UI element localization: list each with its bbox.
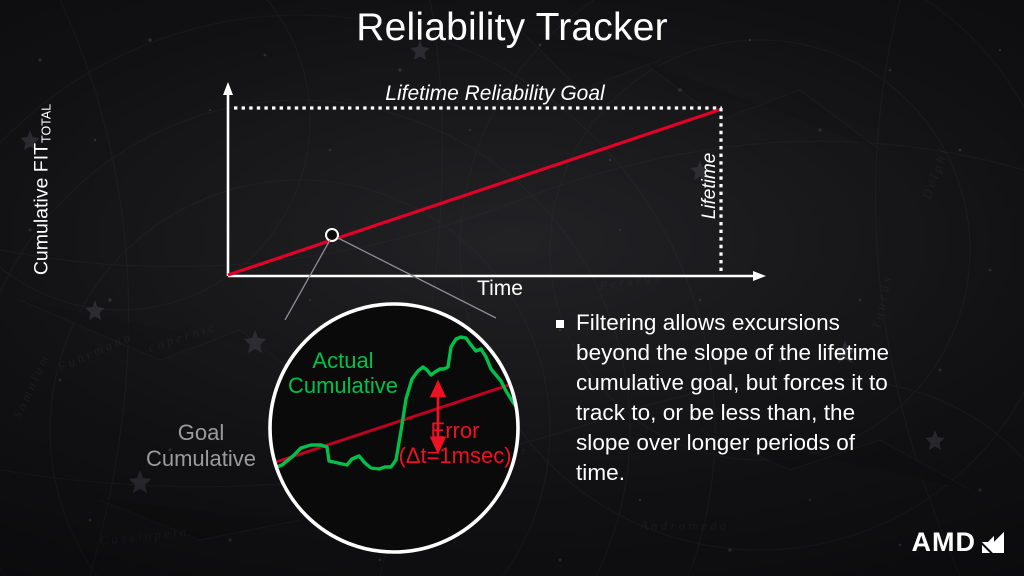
- svg-text:A n d r o m e d a: A n d r o m e d a: [639, 518, 727, 533]
- error-label-sub: (Δt=1msec): [375, 443, 535, 468]
- lifetime-marker-label: Lifetime: [699, 121, 721, 251]
- chart-svg: [0, 0, 1024, 320]
- svg-text:S o m n i u m: S o m n i u m: [9, 353, 51, 421]
- list-item: Filtering allows excursions beyond the s…: [556, 308, 896, 488]
- amd-arrow-icon: [980, 530, 1006, 555]
- actual-cumulative-label: Actual Cumulative: [278, 348, 408, 398]
- actual-cumulative-line1: Actual: [278, 348, 408, 373]
- bullet-text: Filtering allows excursions beyond the s…: [576, 308, 896, 488]
- y-axis-label-sub: TOTAL: [40, 104, 54, 143]
- goal-cumulative-line1: Goal: [108, 420, 294, 446]
- goal-line-title: Lifetime Reliability Goal: [330, 82, 660, 106]
- goal-cumulative-line2: Cumulative: [108, 446, 294, 472]
- svg-text:F u h r m a n n: F u h r m a n n: [54, 329, 132, 375]
- goal-cumulative-label: Goal Cumulative: [108, 420, 294, 471]
- slide-canvas: F u h r m a n n c o p e r n i c D e l p …: [0, 0, 1024, 576]
- svg-text:C a s s i o p e i a: C a s s i o p e i a: [99, 524, 188, 548]
- goal-cumulative-line: [228, 110, 719, 275]
- zoom-point-marker: [326, 229, 338, 241]
- error-label-main: Error: [375, 418, 535, 443]
- y-axis-label-main: Cumulative FIT: [31, 143, 53, 275]
- chart-axes: [223, 82, 766, 281]
- square-bullet-icon: [556, 320, 564, 328]
- actual-cumulative-line2: Cumulative: [278, 373, 408, 398]
- y-axis-label: Cumulative FITTOTAL: [31, 75, 54, 305]
- svg-text:c o p e r n i c: c o p e r n i c: [146, 319, 216, 354]
- reliability-chart: Lifetime Reliability Goal Cumulative FIT…: [0, 0, 1024, 320]
- amd-wordmark: AMD: [912, 527, 977, 558]
- amd-logo: AMD: [912, 527, 1007, 558]
- bullet-list: Filtering allows excursions beyond the s…: [556, 308, 896, 488]
- error-label: Error (Δt=1msec): [375, 418, 535, 468]
